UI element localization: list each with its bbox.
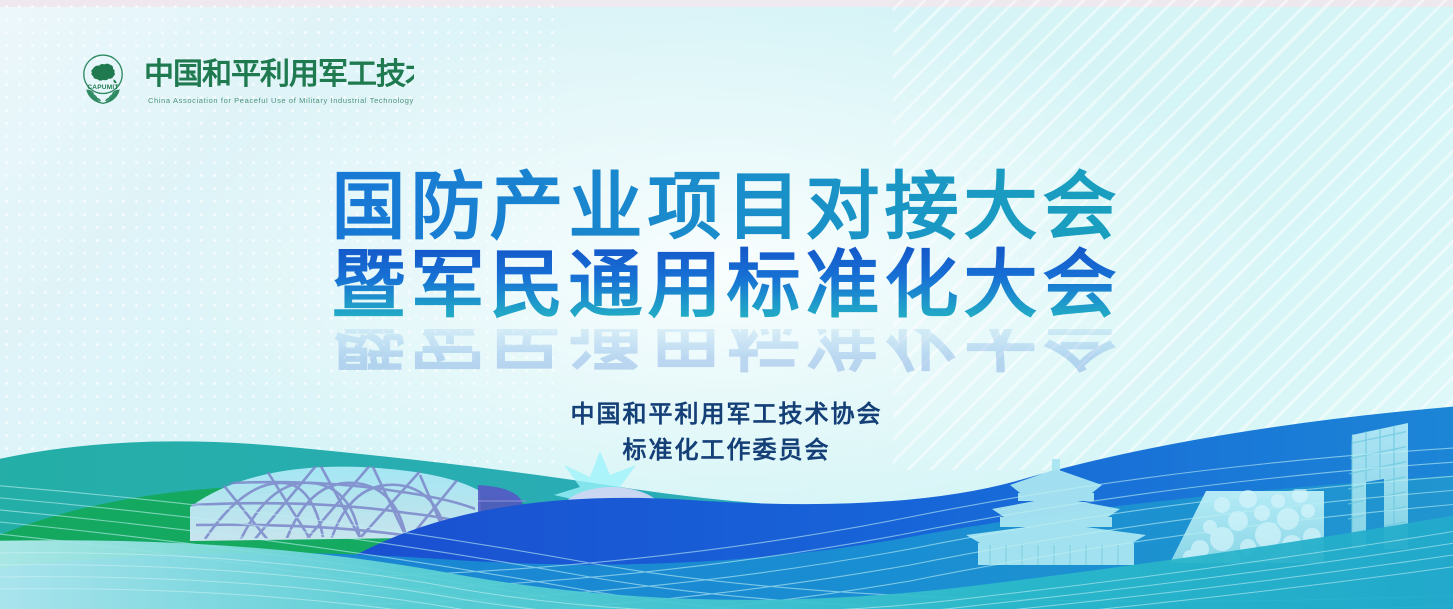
main-title: 国防产业项目对接大会 暨军民通用标准化大会 xyxy=(0,168,1453,324)
china-map-wreath-emblem-icon: CAPUMIT xyxy=(72,47,134,109)
organization-name-block: 中国和平利用军工技术协会 China Association for Peace… xyxy=(144,52,414,105)
main-title-line-1: 国防产业项目对接大会 xyxy=(0,168,1453,246)
svg-text:CAPUMIT: CAPUMIT xyxy=(87,84,118,91)
city-skyline-scenery xyxy=(0,389,1453,609)
organization-name-cn-text: 中国和平利用军工技术协会 xyxy=(144,57,414,92)
organization-logo: CAPUMIT 中国和平利用军工技术协会 China Association f… xyxy=(72,47,414,109)
main-title-line-2: 暨军民通用标准化大会 xyxy=(0,246,1453,324)
organization-name-cn-calligraphy: 中国和平利用军工技术协会 xyxy=(144,52,414,94)
conference-banner: CAPUMIT 中国和平利用军工技术协会 China Association f… xyxy=(0,0,1453,609)
organization-name-en: China Association for Peaceful Use of Mi… xyxy=(148,96,414,105)
